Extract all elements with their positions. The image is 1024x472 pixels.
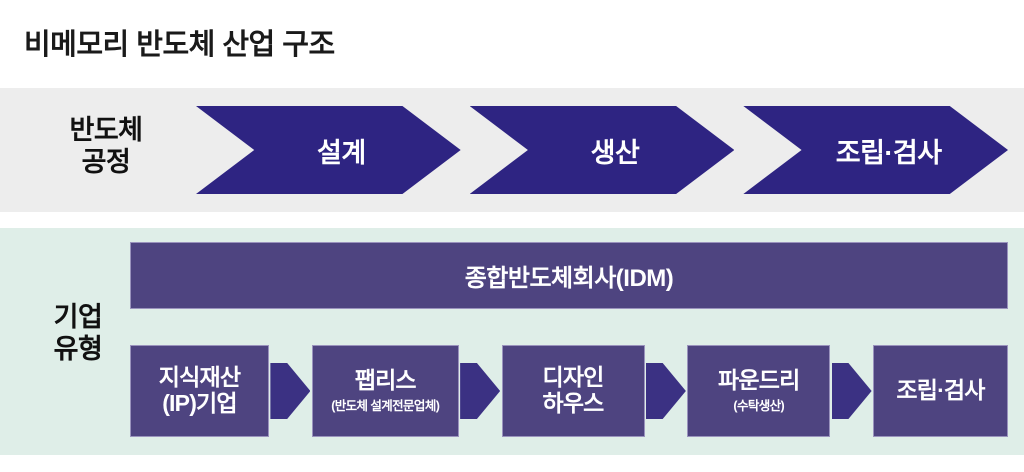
company-type-fabless[interactable]: 팹리스 (반도체 설계전문업체) [312, 345, 459, 437]
process-step-design-label: 설계 [291, 131, 366, 170]
right-arrow-icon [269, 345, 312, 437]
process-step-production-label: 생산 [565, 131, 640, 170]
company-type-fabless-sublabel: (반도체 설계전문업체) [331, 395, 439, 414]
company-row-label-line2: 유형 [22, 334, 134, 366]
company-type-assembly-test-label: 조립·검사 [896, 378, 984, 404]
process-step-assembly-test-label: 조립·검사 [810, 131, 942, 170]
process-row-label: 반도체 공정 [22, 115, 190, 179]
process-step-assembly-test[interactable]: 조립·검사 [743, 106, 1008, 194]
right-arrow-icon [459, 345, 502, 437]
idm-bar-label: 종합반도체회사(IDM) [465, 258, 674, 293]
company-type-fabless-label: 팹리스 [355, 368, 416, 394]
company-type-ip-label-line2: (IP)기업 [162, 391, 237, 417]
right-arrow-icon [645, 345, 688, 437]
company-type-design-house-label-line2: 하우스 [542, 391, 603, 417]
process-step-design[interactable]: 설계 [196, 106, 461, 194]
idm-bar[interactable]: 종합반도체회사(IDM) [130, 242, 1008, 309]
process-row-label-line2: 공정 [22, 147, 190, 179]
company-type-assembly-test[interactable]: 조립·검사 [873, 345, 1008, 437]
semiconductor-process-section: 반도체 공정 설계 생산 조립·검사 [0, 88, 1024, 212]
page-title: 비메모리 반도체 산업 구조 [24, 21, 335, 63]
company-type-design-house-label-line1: 디자인 [542, 365, 603, 391]
company-row-label: 기업 유형 [22, 302, 134, 366]
company-type-design-house[interactable]: 디자인 하우스 [502, 345, 645, 437]
company-type-section: 기업 유형 종합반도체회사(IDM) 지식재산 (IP)기업 팹리스 (반도체 … [0, 228, 1024, 455]
process-row-label-line1: 반도체 [22, 115, 190, 147]
company-type-ip[interactable]: 지식재산 (IP)기업 [130, 345, 269, 437]
process-step-production[interactable]: 생산 [470, 106, 735, 194]
company-row-label-line1: 기업 [22, 302, 134, 334]
company-type-flow: 지식재산 (IP)기업 팹리스 (반도체 설계전문업체) 디자인 하우스 파운드… [130, 345, 1008, 437]
process-flow-chevrons: 설계 생산 조립·검사 [196, 106, 1008, 194]
company-type-ip-label-line1: 지식재산 [159, 365, 240, 391]
company-type-foundry-sublabel: (수탁생산) [733, 395, 784, 414]
title-area: 비메모리 반도체 산업 구조 [0, 0, 1024, 88]
company-type-foundry-label: 파운드리 [718, 368, 799, 394]
company-type-foundry[interactable]: 파운드리 (수탁생산) [687, 345, 830, 437]
right-arrow-icon [830, 345, 873, 437]
